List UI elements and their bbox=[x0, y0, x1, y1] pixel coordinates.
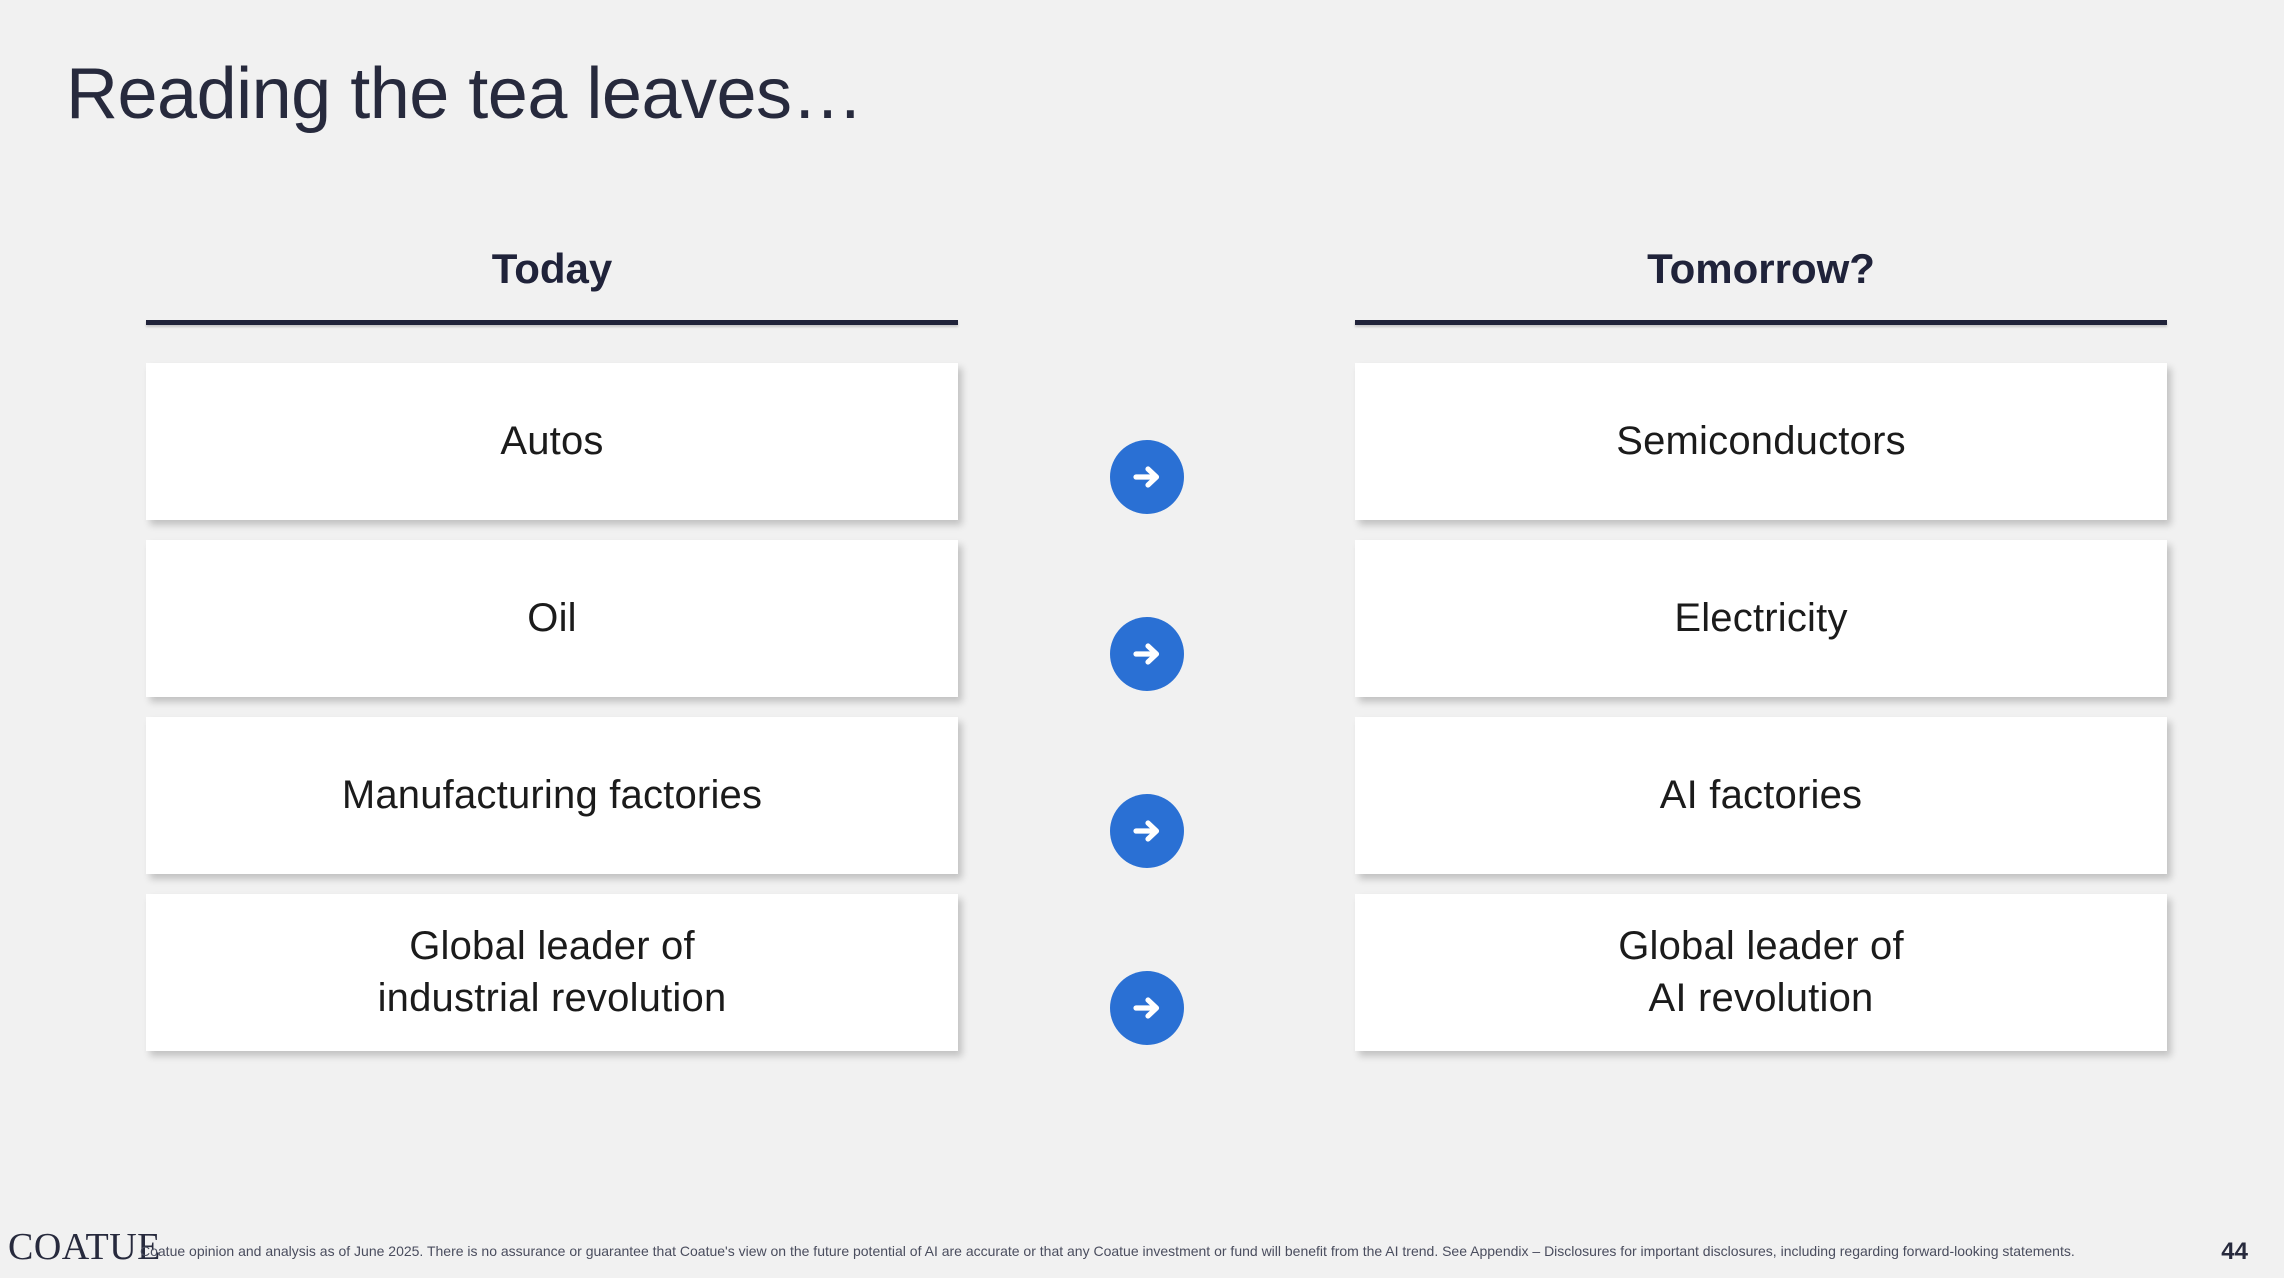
card-line-2: AI revolution bbox=[1649, 976, 1874, 1020]
card-tomorrow-2[interactable]: AI factories bbox=[1355, 717, 2167, 874]
card-line-1: Manufacturing factories bbox=[342, 773, 762, 817]
card-list-tomorrow: Semiconductors Electricity AI factories … bbox=[1355, 363, 2167, 1051]
card-today-2[interactable]: Manufacturing factories bbox=[146, 717, 958, 874]
coatue-logo: COATUE bbox=[8, 1228, 161, 1266]
column-today: Today Autos Oil Manufacturing factories bbox=[146, 248, 958, 1051]
card-list-today: Autos Oil Manufacturing factories Global… bbox=[146, 363, 958, 1051]
column-tomorrow: Tomorrow? Semiconductors Electricity AI … bbox=[1355, 248, 2167, 1051]
arrow-right-icon[interactable] bbox=[1110, 794, 1184, 868]
card-label: Electricity bbox=[1674, 593, 1847, 644]
card-today-1[interactable]: Oil bbox=[146, 540, 958, 697]
connector-slot-0 bbox=[1109, 398, 1185, 555]
arrow-right-icon[interactable] bbox=[1110, 617, 1184, 691]
card-tomorrow-0[interactable]: Semiconductors bbox=[1355, 363, 2167, 520]
column-divider-tomorrow bbox=[1355, 320, 2167, 325]
card-line-1: Electricity bbox=[1674, 596, 1847, 640]
card-label: Manufacturing factories bbox=[342, 770, 762, 821]
card-line-1: AI factories bbox=[1660, 773, 1862, 817]
card-label: Oil bbox=[527, 593, 577, 644]
card-line-1: Oil bbox=[527, 596, 577, 640]
slide-footer: COATUE Coatue opinion and analysis as of… bbox=[0, 1220, 2284, 1278]
connector-slot-1 bbox=[1109, 575, 1185, 732]
card-line-1: Global leader of bbox=[409, 924, 695, 968]
card-line-1: Semiconductors bbox=[1616, 419, 1906, 463]
card-line-1: Autos bbox=[500, 419, 603, 463]
card-tomorrow-1[interactable]: Electricity bbox=[1355, 540, 2167, 697]
column-divider-today bbox=[146, 320, 958, 325]
card-today-3[interactable]: Global leader of industrial revolution bbox=[146, 894, 958, 1051]
connector-slot-3 bbox=[1109, 929, 1185, 1086]
arrow-right-icon[interactable] bbox=[1110, 440, 1184, 514]
card-label: Autos bbox=[500, 416, 603, 467]
card-label: AI factories bbox=[1660, 770, 1862, 821]
card-label: Global leader of AI revolution bbox=[1618, 921, 1904, 1023]
card-label: Global leader of industrial revolution bbox=[378, 921, 727, 1023]
card-tomorrow-3[interactable]: Global leader of AI revolution bbox=[1355, 894, 2167, 1051]
page-number: 44 bbox=[2221, 1240, 2248, 1264]
column-header-tomorrow: Tomorrow? bbox=[1355, 248, 2167, 304]
card-today-0[interactable]: Autos bbox=[146, 363, 958, 520]
column-header-today: Today bbox=[146, 248, 958, 304]
arrow-right-icon[interactable] bbox=[1110, 971, 1184, 1045]
comparison-matrix: Today Autos Oil Manufacturing factories bbox=[0, 248, 2284, 1148]
connector-list bbox=[1109, 398, 1185, 1086]
connector-slot-2 bbox=[1109, 752, 1185, 909]
disclaimer-text: Coatue opinion and analysis as of June 2… bbox=[140, 1243, 2150, 1260]
card-line-2: industrial revolution bbox=[378, 976, 727, 1020]
page-title: Reading the tea leaves… bbox=[66, 58, 863, 130]
card-line-1: Global leader of bbox=[1618, 924, 1904, 968]
card-label: Semiconductors bbox=[1616, 416, 1906, 467]
